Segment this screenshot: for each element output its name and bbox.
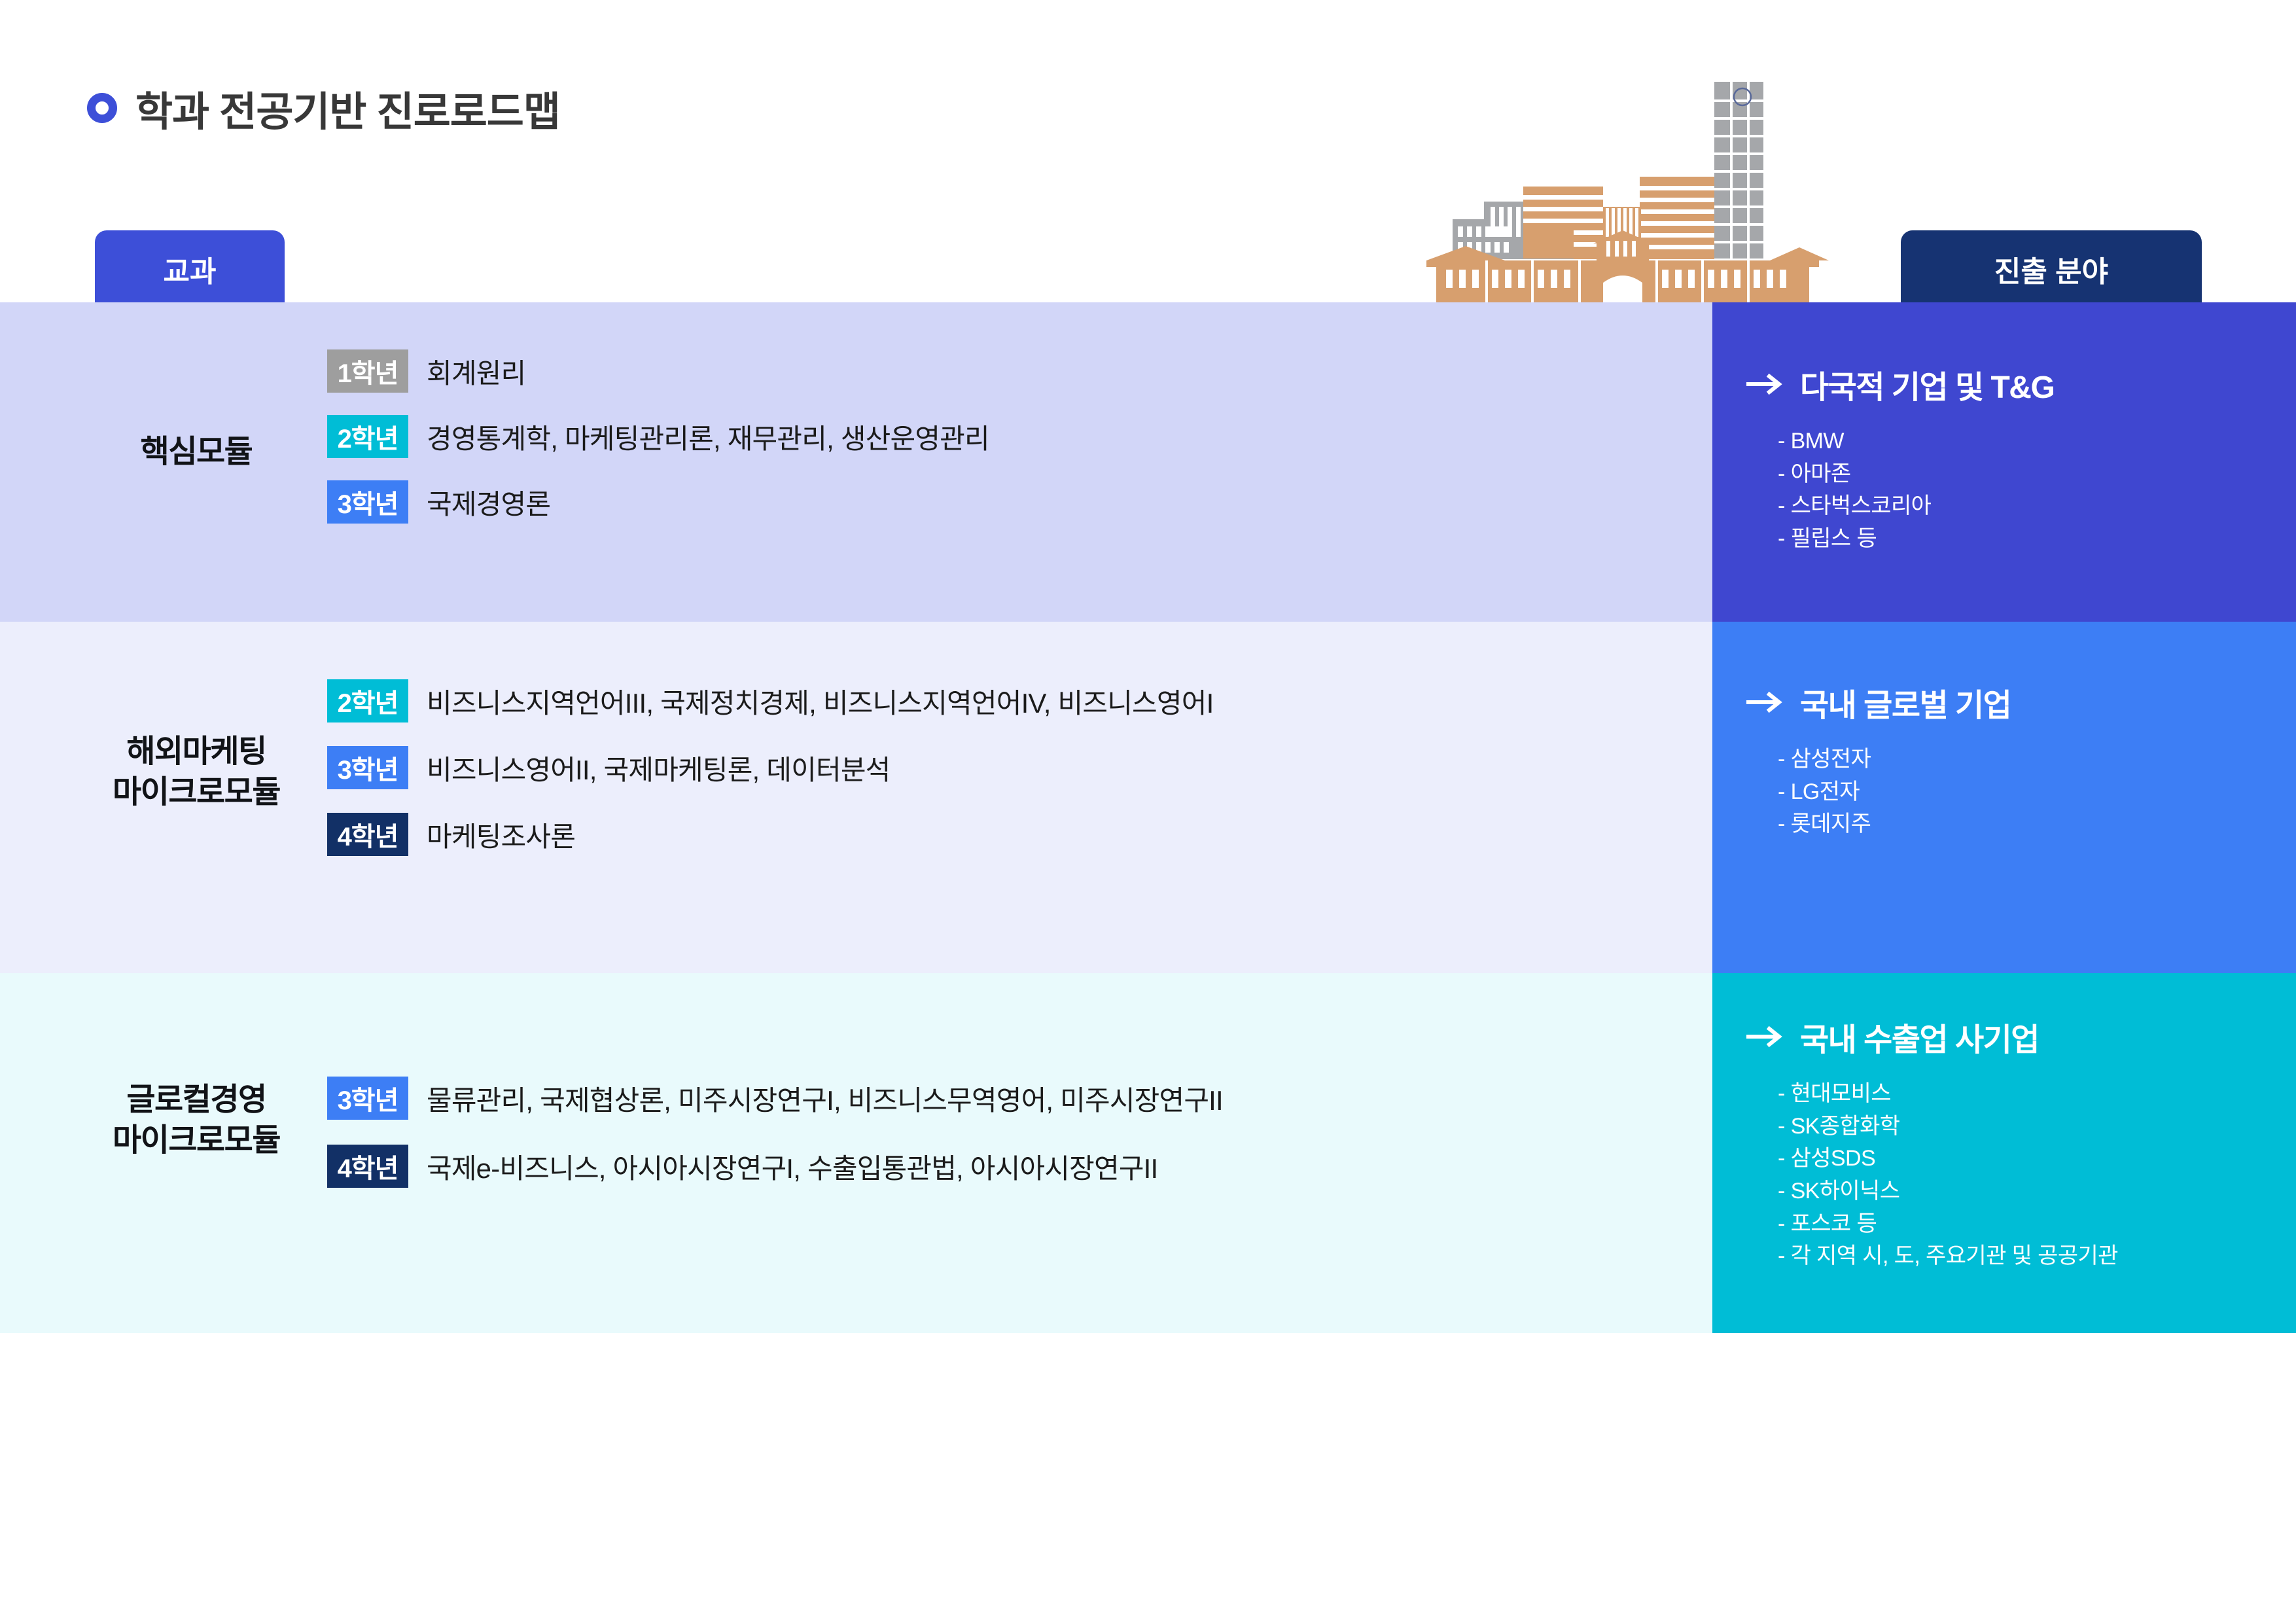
career-panel-2: 국내 글로벌 기업 - 삼성전자 - LG전자 - 롯데지주 (1712, 622, 2296, 973)
course-list: 국제경영론 (427, 482, 550, 522)
roadmap-page: 학과 전공기반 진로로드맵 (0, 0, 2296, 1623)
career-item: - LG전자 (1778, 776, 2296, 809)
year-row: 2학년 경영통계학, 마케팅관리론, 재무관리, 생산운영관리 (327, 415, 989, 458)
career-item: - BMW (1778, 425, 2296, 458)
tab-career[interactable]: 진출 분야 (1901, 230, 2202, 308)
career-header: 국내 수출업 사기업 (1746, 1014, 2296, 1060)
career-item: - 스타벅스코리아 (1778, 490, 2296, 523)
tab-subject[interactable]: 교과 (95, 230, 285, 308)
course-list: 국제e-비즈니스, 아시아시장연구I, 수출입통관법, 아시아시장연구II (427, 1147, 1157, 1186)
year-row: 3학년 비즈니스영어II, 국제마케팅론, 데이터분석 (327, 746, 1213, 789)
year-badge: 4학년 (327, 813, 408, 856)
course-list: 마케팅조사론 (427, 815, 575, 855)
career-item-list: - 삼성전자 - LG전자 - 롯데지주 (1746, 743, 2296, 841)
year-badge: 2학년 (327, 415, 408, 458)
career-title: 국내 수출업 사기업 (1800, 1014, 2039, 1060)
module-label-line: 글로컬경영 (65, 1080, 327, 1120)
year-badge: 3학년 (327, 746, 408, 789)
career-item: - 롯데지주 (1778, 808, 2296, 841)
year-badge: 2학년 (327, 679, 408, 722)
career-panel-1: 다국적 기업 및 T&G - BMW - 아마존 - 스타벅스코리아 - 필립스… (1712, 302, 2296, 622)
course-list: 회계원리 (427, 351, 525, 391)
career-title: 국내 글로벌 기업 (1800, 679, 2011, 725)
module-label-2: 해외마케팅 마이크로모듈 (65, 732, 327, 813)
career-item: - 아마존 (1778, 458, 2296, 491)
city-skyline-illustration (1407, 52, 1839, 308)
career-panel-3: 국내 수출업 사기업 - 현대모비스 - SK종합화학 - 삼성SDS - SK… (1712, 973, 2296, 1333)
career-item: - 포스코 등 (1778, 1208, 2296, 1241)
module-years-3: 3학년 물류관리, 국제협상론, 미주시장연구I, 비즈니스무역영어, 미주시장… (327, 1077, 1223, 1188)
year-row: 1학년 회계원리 (327, 349, 989, 393)
year-row: 2학년 비즈니스지역언어III, 국제정치경제, 비즈니스지역언어IV, 비즈니… (327, 679, 1213, 722)
year-row: 3학년 국제경영론 (327, 480, 989, 524)
career-item-list: - BMW - 아마존 - 스타벅스코리아 - 필립스 등 (1746, 425, 2296, 556)
career-item-list: - 현대모비스 - SK종합화학 - 삼성SDS - SK하이닉스 - 포스코 … (1746, 1078, 2296, 1273)
course-list: 경영통계학, 마케팅관리론, 재무관리, 생산운영관리 (427, 417, 989, 457)
career-header: 다국적 기업 및 T&G (1746, 361, 2296, 407)
career-item: - 현대모비스 (1778, 1078, 2296, 1111)
ring-icon (87, 93, 117, 123)
course-list: 비즈니스영어II, 국제마케팅론, 데이터분석 (427, 748, 891, 788)
year-row: 4학년 마케팅조사론 (327, 813, 1213, 856)
module-label-3: 글로컬경영 마이크로모듈 (65, 1080, 327, 1162)
year-row: 3학년 물류관리, 국제협상론, 미주시장연구I, 비즈니스무역영어, 미주시장… (327, 1077, 1223, 1120)
career-item: - 필립스 등 (1778, 523, 2296, 556)
module-label-line: 마이크로모듈 (65, 1120, 327, 1161)
arrow-right-icon (1746, 1026, 1784, 1048)
module-label-line: 해외마케팅 (65, 732, 327, 772)
arrow-right-icon (1746, 373, 1784, 395)
career-item: - SK하이닉스 (1778, 1175, 2296, 1208)
module-years-2: 2학년 비즈니스지역언어III, 국제정치경제, 비즈니스지역언어IV, 비즈니… (327, 679, 1213, 856)
module-label-1: 핵심모듈 (65, 432, 327, 473)
year-badge: 3학년 (327, 1077, 408, 1120)
year-badge: 3학년 (327, 480, 408, 524)
module-label-line: 마이크로모듈 (65, 772, 327, 813)
career-item: - 삼성전자 (1778, 743, 2296, 776)
page-title-wrap: 학과 전공기반 진로로드맵 (87, 79, 560, 137)
course-list: 비즈니스지역언어III, 국제정치경제, 비즈니스지역언어IV, 비즈니스영어I (427, 681, 1213, 721)
module-years-1: 1학년 회계원리 2학년 경영통계학, 마케팅관리론, 재무관리, 생산운영관리… (327, 349, 989, 524)
arrow-right-icon (1746, 691, 1784, 713)
career-item: - 삼성SDS (1778, 1143, 2296, 1175)
career-item: - SK종합화학 (1778, 1111, 2296, 1143)
year-row: 4학년 국제e-비즈니스, 아시아시장연구I, 수출입통관법, 아시아시장연구I… (327, 1145, 1223, 1188)
page-title: 학과 전공기반 진로로드맵 (135, 79, 560, 137)
career-item: - 각 지역 시, 도, 주요기관 및 공공기관 (1778, 1240, 2296, 1273)
course-list: 물류관리, 국제협상론, 미주시장연구I, 비즈니스무역영어, 미주시장연구II (427, 1079, 1223, 1118)
career-header: 국내 글로벌 기업 (1746, 679, 2296, 725)
career-title: 다국적 기업 및 T&G (1800, 361, 2054, 407)
module-label-line: 핵심모듈 (65, 432, 327, 473)
year-badge: 4학년 (327, 1145, 408, 1188)
year-badge: 1학년 (327, 349, 408, 393)
